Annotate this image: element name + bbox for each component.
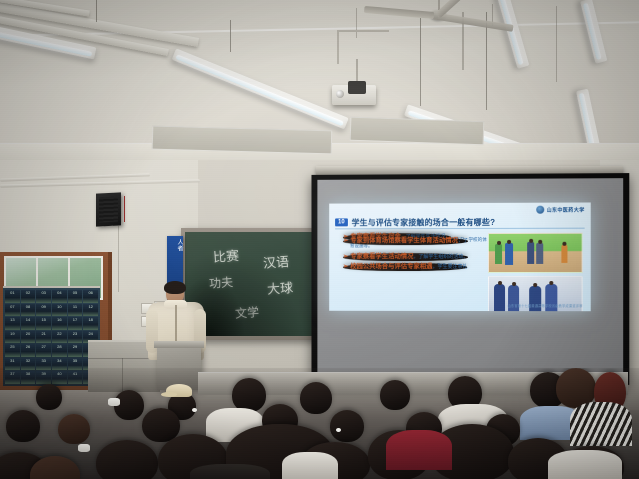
audience-shoulders-red — [386, 430, 452, 470]
phone-pocket[interactable]: 19 — [5, 331, 20, 344]
university-crest-icon — [536, 206, 544, 214]
slide-bullet: ➢专家察看学生活动情况，了解学生组织的活动、学校开展的体育活动。 — [343, 253, 490, 259]
bullet-heading: ➢专家到体育场馆察看学生体育活动情况，了 — [343, 237, 468, 245]
university-logo: 山东中医药大学 — [536, 206, 584, 214]
hair-tie — [336, 428, 341, 432]
phone-pocket[interactable]: 25 — [5, 344, 20, 357]
phone-pocket[interactable]: 12 — [83, 304, 98, 317]
phone-pocket[interactable]: 05 — [68, 290, 83, 303]
audience-shoulders-dark — [190, 464, 270, 479]
phone-pocket[interactable]: 29 — [68, 344, 83, 357]
face-mask — [78, 444, 90, 452]
phone-pocket[interactable]: 16 — [52, 317, 67, 330]
phone-pocket[interactable]: 15 — [36, 317, 51, 330]
face-mask — [108, 398, 120, 406]
fluorescent-light — [172, 48, 349, 129]
chalk-writing: 文学 — [234, 303, 259, 322]
slide-credit-line: 山东省第十七届普通高等学校省级教学成果奖评审 — [508, 303, 583, 308]
bullet-heading: ➢专家察看学生活动情况，了解学生组织的活动、 — [343, 253, 468, 261]
presenter-hair — [164, 281, 186, 294]
bullet-tail-text: ，了 — [458, 238, 468, 244]
chalk-writing: 汉语 — [262, 251, 289, 272]
slide-bullet-list: ➢专家察看学生宿舍，了解学生生活情况。➢专家到体育场馆察看学生体育活动情况，了解… — [343, 233, 490, 273]
phone-pocket[interactable]: 04 — [52, 290, 67, 303]
projector-mount-arm — [337, 30, 389, 32]
bullet-heading: ➢校园公共场合与评估专家相遇，学生要注意礼 — [343, 263, 467, 271]
phone-pocket[interactable]: 21 — [36, 331, 51, 344]
audience-head — [36, 384, 62, 410]
audience-head-front — [96, 440, 158, 479]
bullet-head-text: 校园公共场合与评估专家相遇 — [350, 263, 432, 270]
projector-lens-icon — [336, 90, 344, 98]
chalk-writing: 大球 — [266, 277, 293, 298]
bullet-head-text: 专家到体育场馆察看学生体育活动情况 — [350, 237, 458, 244]
slide-number-badge: 10 — [335, 218, 348, 226]
hair-tie — [192, 408, 197, 412]
phone-pocket[interactable]: 08 — [21, 304, 36, 317]
audience-shoulders-white — [282, 452, 338, 479]
audience-head — [380, 380, 410, 410]
ceiling-vent — [350, 117, 485, 146]
audience-head — [330, 410, 364, 442]
slide-bullet: ➢校园公共场合与评估专家相遇，学生要注意礼仪、主动、热情，表现出对学校的热爱和自… — [343, 263, 490, 269]
phone-pocket[interactable]: 06 — [83, 290, 98, 303]
projector-body-dark — [348, 81, 366, 94]
slide-title: 学生与评估专家接触的场合一般有哪些? — [352, 216, 496, 227]
phone-pocket[interactable]: 11 — [68, 304, 83, 317]
ceiling-vent — [152, 126, 333, 155]
slide-image-campus-visit — [488, 233, 583, 273]
hanging-wire — [124, 196, 125, 222]
phone-pocket[interactable]: 23 — [68, 331, 83, 344]
phone-pocket[interactable]: 22 — [52, 331, 67, 344]
audience — [0, 368, 639, 479]
audience-cap — [166, 384, 192, 397]
bullet-tail-text: ，学生要注意礼 — [433, 264, 468, 270]
fan-blade — [364, 6, 434, 19]
phone-pocket[interactable]: 18 — [83, 317, 98, 330]
fluorescent-light — [580, 0, 607, 64]
classroom-photo: 0102030405060708091011121314151617181920… — [0, 0, 639, 479]
phone-pocket[interactable]: 27 — [36, 344, 51, 357]
phone-pocket[interactable]: 17 — [68, 317, 83, 330]
ceiling-projector — [332, 85, 376, 105]
phone-pocket[interactable]: 09 — [36, 304, 51, 317]
chalk-writing: 比赛 — [212, 245, 239, 266]
phone-pocket[interactable]: 10 — [52, 304, 67, 317]
projector-mount-arm — [337, 30, 339, 64]
slide-title-row: 10 学生与评估专家接触的场合一般有哪些? — [335, 216, 585, 230]
chalk-writing: 功夫 — [208, 273, 233, 292]
slide-bullet: ➢专家到体育场馆察看学生体育活动情况，了解学生是否积极参加体育活动，了解群体性体… — [343, 237, 490, 249]
audience-head — [6, 410, 40, 442]
bullet-tail-text: ，了解学生组织的活动、 — [413, 254, 468, 260]
screen-surface: 山东中医药大学 10 学生与评估专家接触的场合一般有哪些? ➢专家察看学生宿舍，… — [317, 178, 623, 379]
phone-pocket[interactable]: 03 — [36, 290, 51, 303]
phone-pocket[interactable]: 13 — [5, 317, 20, 330]
phone-pocket[interactable]: 26 — [21, 344, 36, 357]
projection-screen: 山东中医药大学 10 学生与评估专家接触的场合一般有哪些? ➢专家察看学生宿舍，… — [311, 173, 629, 385]
hanging-wire — [118, 226, 119, 292]
presentation-slide: 山东中医药大学 10 学生与评估专家接触的场合一般有哪些? ➢专家察看学生宿舍，… — [329, 202, 591, 311]
audience-head — [300, 382, 332, 414]
phone-pocket[interactable]: 14 — [21, 317, 36, 330]
university-name: 山东中医药大学 — [546, 206, 584, 213]
banner-text: 人者 — [176, 239, 182, 251]
phone-pocket[interactable]: 28 — [52, 344, 67, 357]
audience-shoulders-white — [548, 450, 622, 479]
audience-head — [58, 414, 90, 444]
bullet-head-text: 专家察看学生活动情况 — [350, 253, 413, 260]
phone-pocket[interactable]: 01 — [5, 290, 20, 303]
ceiling — [0, 0, 639, 176]
audience-shoulders-striped — [570, 402, 632, 446]
fluorescent-light — [496, 0, 529, 69]
bullet-marker-icon: ➢ — [343, 237, 348, 244]
phone-pocket[interactable]: 02 — [21, 290, 36, 303]
audience-head — [232, 378, 266, 412]
bullet-marker-icon: ➢ — [343, 253, 348, 260]
wall-speaker — [96, 192, 121, 226]
phone-pocket[interactable]: 07 — [5, 304, 20, 317]
bullet-marker-icon: ➢ — [343, 263, 348, 270]
phone-pocket[interactable]: 20 — [21, 331, 36, 344]
